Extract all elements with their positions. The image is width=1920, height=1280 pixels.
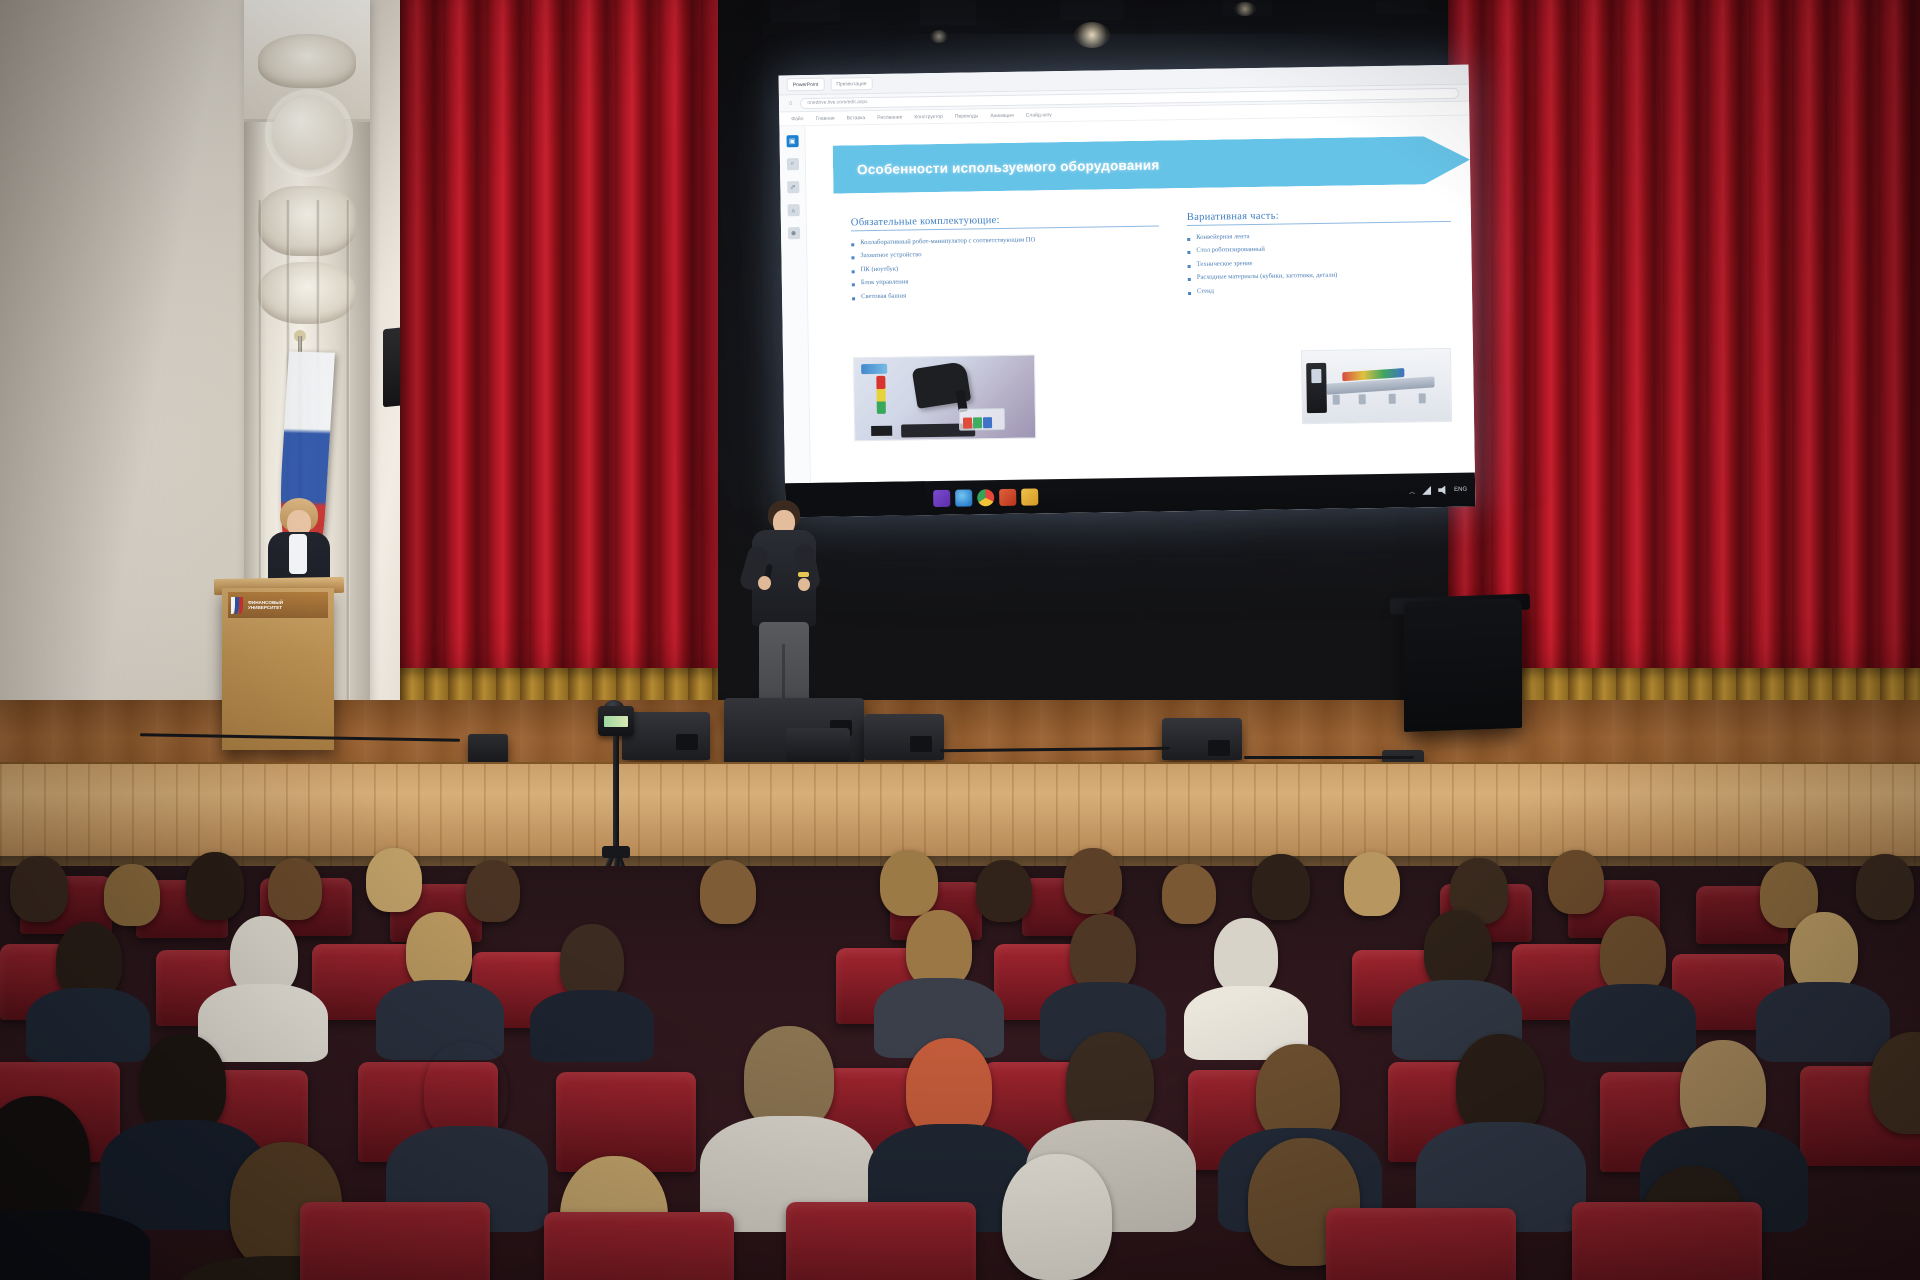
bullet-icon — [1187, 251, 1190, 254]
stage-apron — [0, 762, 1920, 870]
presenter-left-hand — [758, 576, 771, 590]
stage-monitor-3 — [864, 714, 944, 760]
right-column-heading: Вариативная часть: — [1187, 208, 1451, 226]
bullet-text: Стенд — [1197, 287, 1214, 296]
list-item: Блок управления — [852, 275, 1160, 289]
presenter-trousers — [759, 622, 809, 708]
person-icon[interactable]: ☻ — [787, 227, 799, 239]
cnc-legs — [1333, 393, 1433, 405]
cube-green — [973, 417, 982, 428]
audience-shoulders — [198, 984, 328, 1062]
audience-head — [1002, 1154, 1112, 1280]
audience-head — [1066, 1032, 1154, 1134]
stage-monitor-1 — [622, 712, 710, 760]
list-item: Стенд — [1188, 283, 1452, 296]
podium-label: ФИНАНСОВЫЙ УНИВЕРСИТЕТ — [248, 600, 283, 611]
audience-head — [1424, 910, 1492, 990]
audience-head — [104, 864, 160, 926]
slide-images — [853, 348, 1452, 441]
slide-thumbnail-icon[interactable]: ▣ — [786, 135, 798, 147]
audience-head — [976, 860, 1032, 922]
browser-tab-0[interactable]: PowerPoint — [787, 78, 825, 92]
bullet-icon — [852, 283, 855, 286]
audience-head — [1252, 854, 1310, 920]
cube-blue — [983, 417, 992, 428]
stage-spotlight-small — [930, 30, 948, 43]
brand-logo-icon — [861, 364, 887, 374]
projection-screen: PowerPoint Презентация ⌂ onedrive.live.c… — [779, 65, 1476, 518]
bullet-text: Стол роботизированный — [1196, 246, 1265, 256]
subwoofer — [786, 728, 850, 762]
wall-ornament-top — [258, 34, 356, 88]
audience-head — [1064, 848, 1122, 914]
taskbar-icons — [933, 479, 1039, 515]
audience-head — [466, 860, 520, 922]
signal-tower-base — [871, 426, 892, 436]
bullet-text: ПК (ноутбук) — [861, 265, 899, 274]
audience-head — [1070, 914, 1136, 992]
list-item: Световая башня — [852, 288, 1160, 302]
slide-columns: Обязательные комплектующие: Коллаборатив… — [851, 208, 1452, 306]
presentation-slide: Особенности используемого оборудования О… — [805, 116, 1475, 483]
stage-spotlight — [1074, 22, 1110, 48]
system-tray: ︿ ENG — [1409, 473, 1468, 508]
audience-shoulders — [26, 988, 150, 1062]
menu-item-1[interactable]: Главная — [815, 115, 834, 121]
browser-tab-1[interactable]: Презентация — [830, 77, 872, 91]
share-icon[interactable]: ⇗ — [787, 181, 799, 193]
camera-lcd-screen — [604, 716, 628, 727]
presenter-right-hand — [798, 578, 810, 591]
slide-column-left: Обязательные комплектующие: Коллаборатив… — [851, 212, 1160, 306]
audience-head — [880, 850, 938, 916]
bullet-text: Коллаборативный робот-манипулятор с соот… — [860, 236, 1035, 248]
seat[interactable] — [300, 1202, 490, 1280]
audience-head — [10, 856, 68, 922]
bullet-text: Захватное устройство — [860, 252, 921, 262]
audience-head — [1790, 912, 1858, 992]
tripod-column — [613, 736, 619, 854]
bullet-text: Техническое зрение — [1197, 260, 1253, 270]
list-item: Расходные материалы (кубики, заготовки, … — [1188, 270, 1452, 283]
signal-tower-icon — [876, 376, 886, 414]
comment-icon[interactable]: ▵ — [787, 204, 799, 216]
list-item: Захватное устройство — [851, 248, 1159, 262]
grand-piano — [1404, 598, 1522, 732]
bullet-icon — [852, 270, 855, 273]
wristwatch — [798, 572, 809, 577]
menu-item-2[interactable]: Вставка — [847, 115, 866, 121]
list-item: ПК (ноутбук) — [852, 261, 1160, 275]
light-rig-bar-2 — [920, 0, 976, 26]
network-icon[interactable] — [1422, 486, 1431, 495]
list-item: Коллаборативный робот-манипулятор с соот… — [851, 234, 1159, 248]
audience-head — [560, 924, 624, 1000]
stage-cable-3 — [1244, 756, 1414, 759]
seat[interactable] — [544, 1212, 734, 1280]
bullet-text: Блок управления — [861, 279, 909, 289]
cube-red — [963, 417, 972, 428]
bullet-icon — [1188, 278, 1191, 281]
audience-head — [906, 1038, 992, 1138]
seat[interactable] — [1326, 1208, 1516, 1280]
bullet-text: Световая башня — [861, 292, 906, 302]
audience-shoulders — [530, 990, 654, 1062]
seat[interactable] — [1572, 1202, 1762, 1280]
apron-planks — [0, 764, 1920, 870]
search-icon[interactable]: ⌕ — [786, 158, 798, 170]
wall-ornament-mid — [258, 186, 356, 256]
chrome-icon[interactable] — [977, 489, 994, 506]
audience-head — [1456, 1034, 1544, 1136]
speaker-shirt — [289, 534, 307, 574]
menu-item-4[interactable]: Конструктор — [914, 113, 943, 119]
podium-label-line2: УНИВЕРСИТЕТ — [248, 605, 282, 610]
stage-curtain-left — [400, 0, 718, 730]
bullet-icon — [851, 243, 854, 246]
podium-branding: ФИНАНСОВЫЙ УНИВЕРСИТЕТ — [228, 592, 328, 618]
light-rig-bar-1 — [770, 0, 840, 22]
audience-head — [1214, 918, 1278, 994]
menu-item-7[interactable]: Слайд-шоу — [1026, 112, 1052, 118]
bullet-text: Расходные материалы (кубики, заготовки, … — [1197, 272, 1338, 283]
control-cabinet — [1306, 363, 1327, 413]
list-item: Конвейерная лента — [1187, 230, 1451, 243]
home-icon[interactable]: ⌂ — [789, 100, 792, 106]
audience-shoulders — [1570, 984, 1696, 1062]
volume-icon[interactable] — [1438, 485, 1447, 494]
cnc-workstation-photo — [1301, 348, 1452, 424]
up-chevron-icon[interactable]: ︿ — [1409, 486, 1415, 495]
robot-arm-icon — [912, 361, 972, 409]
light-rig-bar-5 — [1376, 0, 1428, 14]
audience-head — [1548, 850, 1604, 914]
menu-item-3[interactable]: Рисование — [877, 114, 902, 120]
stage-monitor-5 — [1162, 718, 1242, 760]
stage-spotlight-small-2 — [1234, 2, 1256, 16]
bullet-icon — [1187, 238, 1190, 241]
slide-title: Особенности используемого оборудования — [857, 140, 1160, 193]
menu-item-5[interactable]: Переходы — [955, 113, 979, 119]
audience-head — [140, 1034, 226, 1134]
bullet-icon — [1188, 292, 1191, 295]
audience-head — [268, 858, 322, 920]
list-item: Стол роботизированный — [1187, 243, 1451, 256]
language-indicator[interactable]: ENG — [1454, 487, 1467, 493]
robot-arm-photo — [853, 354, 1036, 441]
auditorium-scene: PowerPoint Презентация ⌂ onedrive.live.c… — [0, 0, 1920, 1280]
university-logo-icon — [231, 597, 245, 614]
auditorium-seating — [0, 866, 1920, 1280]
powerpoint-icon[interactable] — [999, 488, 1016, 505]
bullet-text: Конвейерная лента — [1196, 233, 1250, 243]
left-column-heading: Обязательные комплектующие: — [851, 212, 1159, 231]
audience-head — [700, 860, 756, 924]
folder-icon[interactable] — [1021, 488, 1038, 505]
audience-head — [1680, 1040, 1766, 1140]
audience-head — [906, 910, 972, 988]
audience-head — [406, 912, 472, 990]
slide-title-banner: Особенности используемого оборудования — [833, 136, 1471, 194]
audience-head — [186, 852, 244, 920]
seat[interactable] — [786, 1202, 976, 1280]
audience-shoulders — [1756, 982, 1890, 1062]
wall-ornament-low — [258, 262, 356, 324]
list-item: Техническое зрение — [1188, 257, 1452, 270]
light-rig-bar-3 — [1060, 0, 1124, 20]
stage-monitor-4 — [468, 734, 508, 764]
bullet-icon — [852, 297, 855, 300]
audience-head — [1162, 864, 1216, 924]
start-icon[interactable] — [933, 489, 950, 506]
bullet-icon — [1188, 265, 1191, 268]
slide-column-right: Вариативная часть: Конвейерная лента Сто… — [1187, 208, 1452, 301]
tripod-head — [602, 846, 630, 858]
wall-medallion — [272, 96, 346, 170]
menu-item-6[interactable]: Анимация — [990, 112, 1014, 118]
bullet-icon — [851, 257, 854, 260]
audience-head — [744, 1026, 834, 1130]
audience-head — [1600, 916, 1666, 994]
projected-desktop: PowerPoint Презентация ⌂ onedrive.live.c… — [779, 65, 1476, 518]
presenter-on-stage — [742, 500, 828, 708]
menu-item-0[interactable]: Файл — [791, 116, 803, 122]
audience-head — [1344, 852, 1400, 916]
browser-icon[interactable] — [955, 489, 972, 506]
audience-head — [366, 848, 422, 912]
audience-head — [1856, 854, 1914, 920]
podium-label-line1: ФИНАНСОВЫЙ — [248, 600, 283, 605]
